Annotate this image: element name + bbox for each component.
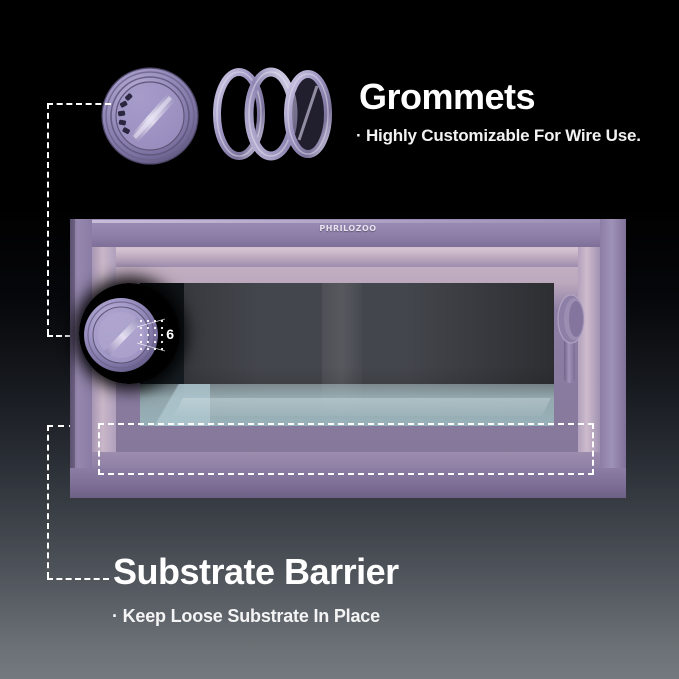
product-feature-graphic: Grommets · Highly Customizable For Wire … xyxy=(0,0,679,679)
grommet-callout-graphic xyxy=(79,283,180,384)
connector-dash-left-upper xyxy=(47,103,49,335)
grommet-count-label: 6 xyxy=(166,326,174,342)
door-latch-icon xyxy=(554,291,588,389)
feature-subtitle-substrate-barrier: · Keep Loose Substrate In Place xyxy=(112,606,380,627)
enclosure-glass-panel xyxy=(140,283,554,426)
substrate-floor-highlight xyxy=(174,398,551,416)
feature-subtitle-grommets: · Highly Customizable For Wire Use. xyxy=(356,126,641,146)
top-rail-highlight xyxy=(78,220,618,223)
grommet-callout-bubble: 6 xyxy=(79,283,180,384)
left-post-edge xyxy=(70,219,75,498)
substrate-barrier-band xyxy=(140,384,554,426)
enclosure-bottom-rail xyxy=(70,468,626,498)
connector-dash-left-lower xyxy=(47,425,49,578)
grommet-disc-icon xyxy=(100,66,200,166)
connector-dash-top xyxy=(47,103,111,105)
feature-title-substrate-barrier: Substrate Barrier xyxy=(113,551,399,593)
grommet-rings-icon xyxy=(213,62,335,166)
feature-title-grommets: Grommets xyxy=(359,76,535,118)
brand-logo: PHRILOZOO xyxy=(319,224,376,233)
enclosure-top-rail: PHRILOZOO xyxy=(70,219,626,247)
connector-dash-to-substrate-title xyxy=(47,578,109,580)
enclosure-right-post xyxy=(600,219,626,498)
